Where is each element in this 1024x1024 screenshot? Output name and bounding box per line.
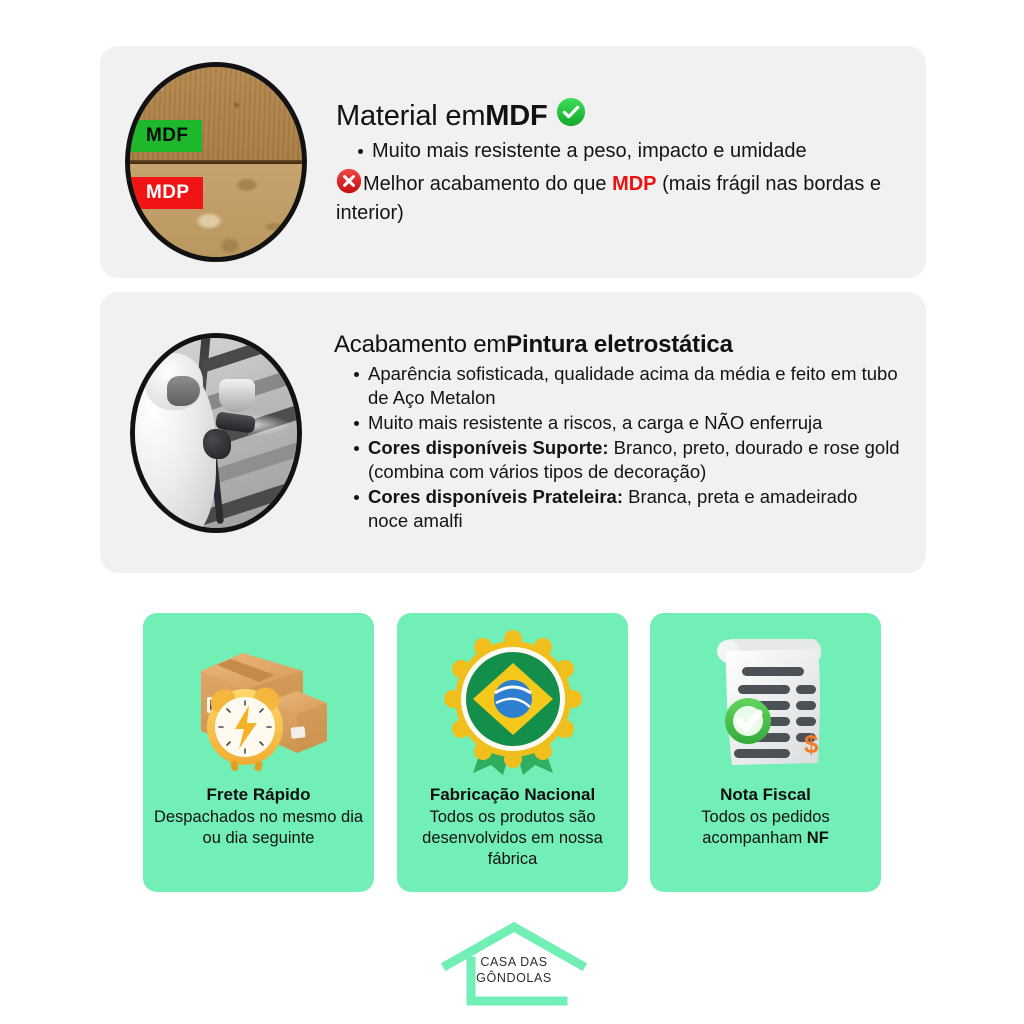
pintura-heading: Acabamento em Pintura eletrostática [334,331,900,359]
painting-scene [135,338,297,528]
shipping-boxes-clock-icon [179,623,339,783]
infographic-page: MDF MDP Material em MDF Muito [0,0,1024,1024]
pintura-media-slot [100,333,332,533]
mdp-label-tag: MDP [130,177,203,209]
list-item: Muito mais resistente a peso, impacto e … [358,139,900,165]
list-item-text: Muito mais resistente a riscos, a carga … [368,412,822,433]
brand-logo-line2: GÔNDOLAS [441,971,587,987]
mdf-text-column: Material em MDF Muito mais resistente a … [332,97,926,227]
pintura-text-column: Acabamento em Pintura eletrostática Apar… [332,331,926,535]
mdp-keyword: MDP [612,173,656,195]
texture-seam [130,160,302,164]
feature-card-frete-rapido: Frete Rápido Despachados no mesmo dia ou… [143,613,374,892]
mdf-label-tag: MDF [130,120,202,152]
brand-logo-line1: CASA DAS [441,955,587,971]
list-item: Aparência sofisticada, qualidade acima d… [354,362,900,410]
green-check-circle-icon [556,97,586,135]
feature-title: Nota Fiscal [720,785,811,805]
feature-description: Despachados no mesmo dia ou dia seguinte [143,807,374,849]
list-item-text: Aparência sofisticada, qualidade acima d… [368,363,898,408]
worker-glove [203,429,231,459]
list-item: Muito mais resistente a riscos, a carga … [354,411,900,435]
spray-gun-cup [219,379,255,411]
electrostatic-painting-photo [130,333,302,533]
feature-card-nota-fiscal: $ Nota Fiscal Todos os pedidos acompanha… [650,613,881,892]
feature-description: Todos os pedidos acompanham NF [650,807,881,849]
list-item-label: Cores disponíveis Suporte: [368,437,609,458]
mdf-note-line: Melhor acabamento do que MDP (mais frági… [336,168,900,227]
feature-card-fabricacao-nacional: Fabricação Nacional Todos os produtos sã… [397,613,628,892]
pintura-heading-strong: Pintura eletrostática [506,331,733,359]
brand-logo-text: CASA DAS GÔNDOLAS [441,955,587,986]
mdf-media-slot: MDF MDP [100,62,332,262]
mdf-heading: Material em MDF [336,97,900,135]
feature-description-strong: NF [807,829,829,847]
brazil-flag-rosette-icon [433,623,593,783]
feature-title: Fabricação Nacional [430,785,595,805]
feature-title: Frete Rápido [207,785,311,805]
pintura-heading-prefix: Acabamento em [334,331,506,359]
respirator-mask-icon [167,376,199,406]
card-pintura-eletrostatica: Acabamento em Pintura eletrostática Apar… [100,292,926,573]
invoice-check-icon: $ [686,623,846,783]
card-material-mdf: MDF MDP Material em MDF Muito [100,46,926,278]
mdf-bullet-list: Muito mais resistente a peso, impacto e … [336,139,900,165]
list-item-label: Cores disponíveis Prateleira: [368,486,623,507]
list-item: Cores disponíveis Suporte: Branco, preto… [354,436,900,484]
pintura-bullet-list: Aparência sofisticada, qualidade acima d… [334,362,900,533]
feature-description: Todos os produtos são desenvolvidos em n… [397,807,628,869]
list-item: Cores disponíveis Prateleira: Branca, pr… [354,485,900,533]
mdf-heading-strong: MDF [485,99,547,133]
svg-text:$: $ [804,729,819,759]
red-x-circle-icon [336,168,362,202]
brand-logo: CASA DAS GÔNDOLAS [441,921,587,1009]
metal-panel [203,333,302,374]
mdf-heading-prefix: Material em [336,99,485,133]
mdf-mdp-comparison-photo: MDF MDP [125,62,307,262]
mdf-note-before: Melhor acabamento do que [363,173,612,195]
